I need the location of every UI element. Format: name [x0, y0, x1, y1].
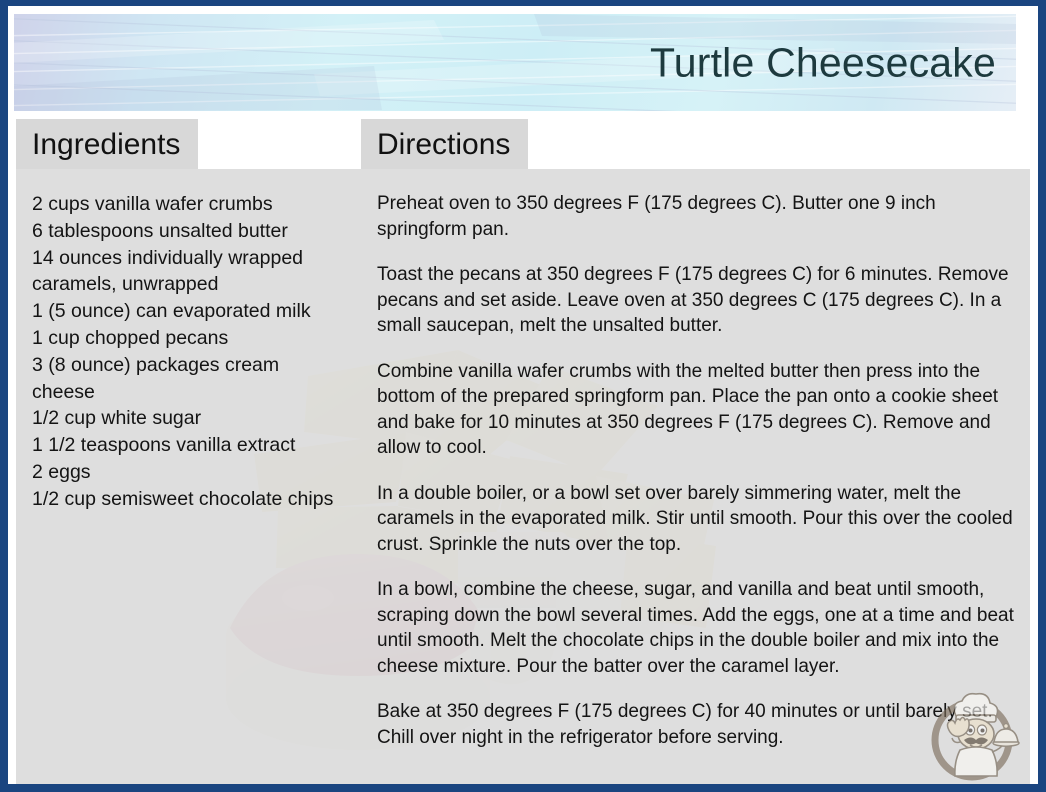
direction-step: Preheat oven to 350 degrees F (175 degre… — [377, 191, 1016, 242]
direction-step: Bake at 350 degrees F (175 degrees C) fo… — [377, 699, 1016, 750]
ingredients-heading: Ingredients — [16, 119, 198, 169]
ingredients-column: Ingredients 2 cups vanilla wafer crumbs … — [16, 119, 361, 784]
recipe-title: Turtle Cheesecake — [650, 39, 996, 86]
direction-step: In a bowl, combine the cheese, sugar, an… — [377, 577, 1016, 679]
directions-panel: Preheat oven to 350 degrees F (175 degre… — [361, 169, 1030, 784]
ingredient-item: 1 1/2 teaspoons vanilla extract — [32, 432, 347, 459]
ingredient-item: 1 cup chopped pecans — [32, 325, 347, 352]
ingredient-item: 1/2 cup white sugar — [32, 405, 347, 432]
directions-column: Directions Preheat oven to 350 degrees F… — [361, 119, 1030, 784]
ingredient-item: 2 cups vanilla wafer crumbs — [32, 191, 347, 218]
recipe-columns: Ingredients 2 cups vanilla wafer crumbs … — [8, 119, 1038, 784]
directions-heading: Directions — [361, 119, 528, 169]
direction-step: Combine vanilla wafer crumbs with the me… — [377, 359, 1016, 461]
ingredients-panel: 2 cups vanilla wafer crumbs 6 tablespoon… — [16, 169, 361, 784]
ingredient-item: 1/2 cup semisweet chocolate chips — [32, 486, 347, 513]
recipe-page: Turtle Cheesecake Ingredients 2 cups van… — [8, 6, 1038, 784]
recipe-card-frame: Turtle Cheesecake Ingredients 2 cups van… — [0, 0, 1046, 792]
ingredients-list: 2 cups vanilla wafer crumbs 6 tablespoon… — [32, 191, 347, 513]
ingredient-item: 14 ounces individually wrapped caramels,… — [32, 245, 347, 299]
ingredient-item: 2 eggs — [32, 459, 347, 486]
ingredient-item: 1 (5 ounce) can evaporated milk — [32, 298, 347, 325]
header-banner: Turtle Cheesecake — [14, 14, 1016, 111]
ingredient-item: 3 (8 ounce) packages cream cheese — [32, 352, 347, 406]
direction-step: In a double boiler, or a bowl set over b… — [377, 481, 1016, 558]
ingredient-item: 6 tablespoons unsalted butter — [32, 218, 347, 245]
direction-step: Toast the pecans at 350 degrees F (175 d… — [377, 262, 1016, 339]
directions-list: Preheat oven to 350 degrees F (175 degre… — [377, 191, 1016, 750]
